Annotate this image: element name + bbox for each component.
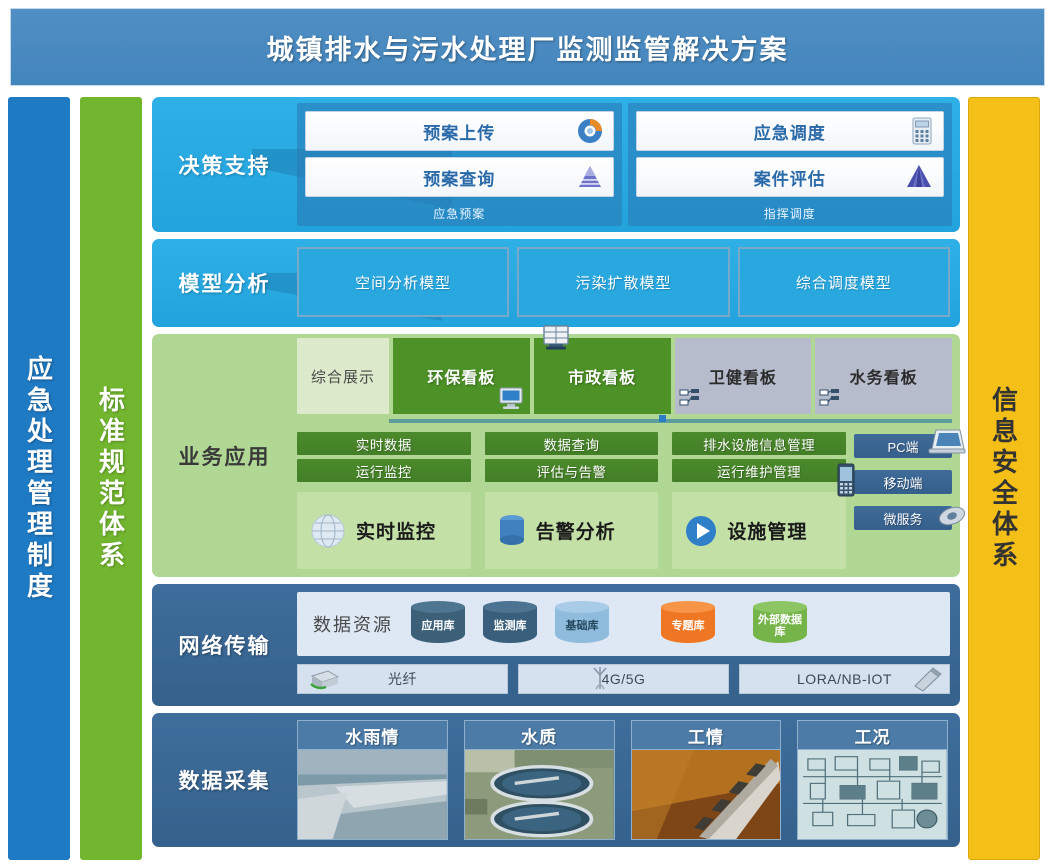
app-feature-facility-management[interactable]: 设施管理 [672,492,846,569]
canal-photo [297,750,448,840]
app-column-facility: 排水设施信息管理 运行维护管理 设施 [672,432,846,569]
layer-decision-support-label: 决策支持 [152,97,297,232]
dashboard-divider [389,419,952,423]
transmission-row: 光纤 4G/5G LORA/NB-IOT [297,664,950,694]
app-column-monitoring: 实时数据 运行监控 [297,432,471,569]
layer-data-acquisition: 数据采集 水雨情 水质 [152,713,960,847]
data-card-working-condition[interactable]: 工况 [797,720,948,840]
app-button-data-query[interactable]: 数据查询 [485,432,659,455]
terminal-mobile[interactable]: 移动端 [854,470,952,494]
button-case-assessment[interactable]: 案件评估 [636,157,945,197]
model-box-integrated-dispatch-label: 综合调度模型 [796,272,892,293]
pillar-emergency-management: 应急处理管理制度 [8,97,70,860]
data-card-working-condition-title: 工况 [797,720,948,750]
button-plan-upload-label: 预案上传 [423,119,495,144]
page-title: 城镇排水与污水处理厂监测监管解决方案 [267,28,789,67]
database-external-label: 外部数据库 [753,601,807,647]
architecture-stack: 决策支持 预案上传 预案查询 [152,97,960,854]
app-button-operation-monitor[interactable]: 运行监控 [297,459,471,482]
transmission-4g5g[interactable]: 4G/5G [518,664,729,694]
transmission-fiber-label: 光纤 [388,669,417,689]
transmission-lora-nbiot-label: LORA/NB-IOT [797,671,892,687]
data-resource-label: 数据资源 [313,611,393,637]
pillar-standard-label: 标准规范体系 [93,386,130,572]
app-column-alarm: 数据查询 评估与告警 [485,432,659,569]
app-feature-realtime-monitoring[interactable]: 实时监控 [297,492,471,569]
fiber-icon [308,668,340,692]
layer-business-application: 业务应用 综合展示 环保看板 市政看板 [152,334,960,577]
button-plan-upload[interactable]: 预案上传 [305,111,614,151]
pillar-emergency-label: 应急处理管理制度 [21,355,58,603]
laptop-icon [928,427,966,457]
terminal-pc-label: PC端 [887,437,918,456]
data-resource-panel: 数据资源 应用库 监测库 基础库 [297,592,950,656]
page-title-bar: 城镇排水与污水处理厂监测监管解决方案 [10,8,1045,86]
decision-group-command-dispatch: 应急调度 案件评估 [628,103,953,226]
dashboard-card-water-affairs-label: 水务看板 [850,364,918,388]
network-icon [679,388,701,408]
layer-network-transmission-label: 网络传输 [152,584,297,706]
app-button-operation-monitor-label: 运行监控 [356,461,412,481]
model-box-integrated-dispatch[interactable]: 综合调度模型 [738,247,950,317]
model-box-spatial-label: 空间分析模型 [355,272,451,293]
lifebuoy-icon [577,118,603,144]
button-plan-query[interactable]: 预案查询 [305,157,614,197]
data-card-rainfall[interactable]: 水雨情 [297,720,448,840]
decision-group-emergency-plan: 预案上传 预案查询 [297,103,622,226]
pillar-security-label: 信息安全体系 [986,386,1023,572]
terminal-mobile-label: 移动端 [883,473,922,492]
applications-area: 实时数据 运行监控 [297,432,952,569]
dashboard-row: 综合展示 环保看板 市政看板 [297,338,952,414]
dashboard-card-water-affairs[interactable]: 水务看板 [815,338,952,414]
diamond-icon [905,164,933,190]
app-button-drainage-facility-info[interactable]: 排水设施信息管理 [672,432,846,455]
app-button-maintenance-management[interactable]: 运行维护管理 [672,459,846,482]
button-plan-query-label: 预案查询 [423,165,495,190]
layer-business-application-label: 业务应用 [152,334,297,577]
app-button-drainage-facility-info-label: 排水设施信息管理 [703,434,815,454]
database-monitoring-label: 监测库 [483,601,537,647]
database-application-label: 应用库 [411,601,465,647]
terminal-pc[interactable]: PC端 [854,434,952,458]
play-icon [682,512,720,550]
sensor-icon [911,666,945,692]
database-external[interactable]: 外部数据库 [753,601,807,647]
terminal-microservice-label: 微服务 [883,509,922,528]
layer-model-analysis-label: 模型分析 [152,239,297,327]
database-basic[interactable]: 基础库 [555,601,609,647]
phone-icon [836,463,856,497]
database-thematic-label: 专题库 [661,601,715,647]
database-monitoring[interactable]: 监测库 [483,601,537,647]
terminal-microservice[interactable]: 微服务 [854,506,952,530]
dashboard-card-municipal[interactable]: 市政看板 [534,338,671,414]
window-icon [542,325,570,351]
dashboard-group-label: 综合展示 [297,338,389,414]
data-card-water-quality-title: 水质 [464,720,615,750]
database-thematic[interactable]: 专题库 [661,601,715,647]
model-box-pollution-diffusion[interactable]: 污染扩散模型 [517,247,729,317]
dashboard-card-environmental-label: 环保看板 [427,364,495,388]
calculator-icon [911,117,933,145]
decision-group-emergency-plan-footer: 应急预案 [305,203,614,223]
scada-diagram [797,750,948,840]
app-button-maintenance-management-label: 运行维护管理 [717,461,801,481]
app-feature-facility-management-label: 设施管理 [727,517,807,544]
data-card-project-status[interactable]: 工情 [631,720,782,840]
monitor-icon [498,386,524,410]
database-icon [495,512,529,550]
dashboard-card-municipal-label: 市政看板 [568,364,636,388]
decision-group-command-dispatch-footer: 指挥调度 [636,203,945,223]
app-button-assessment-alarm-label: 评估与告警 [537,461,607,481]
antenna-icon [590,663,610,693]
model-box-spatial[interactable]: 空间分析模型 [297,247,509,317]
gear-icon [936,502,968,530]
layer-data-acquisition-label: 数据采集 [152,713,297,847]
data-card-project-status-title: 工情 [631,720,782,750]
dashboard-card-health-label: 卫健看板 [709,364,777,388]
pipeline-trench-photo [631,750,782,840]
layer-decision-support: 决策支持 预案上传 预案查询 [152,97,960,232]
app-feature-realtime-monitoring-label: 实时监控 [356,517,436,544]
treatment-pond-photo [464,750,615,840]
database-basic-label: 基础库 [555,601,609,647]
app-feature-alarm-analysis-label: 告警分析 [536,517,616,544]
pyramid-icon [577,165,603,189]
network-icon [819,388,841,408]
model-box-pollution-diffusion-label: 污染扩散模型 [575,272,671,293]
transmission-fiber[interactable]: 光纤 [297,664,508,694]
data-card-rainfall-title: 水雨情 [297,720,448,750]
dashboard-card-health[interactable]: 卫健看板 [675,338,812,414]
dashboard-card-environmental[interactable]: 环保看板 [393,338,530,414]
layer-model-analysis: 模型分析 空间分析模型 污染扩散模型 综合调度模型 [152,239,960,327]
transmission-lora-nbiot[interactable]: LORA/NB-IOT [739,664,950,694]
data-card-water-quality[interactable]: 水质 [464,720,615,840]
pillar-standard-system: 标准规范体系 [80,97,142,860]
globe-icon [307,510,349,552]
app-feature-alarm-analysis[interactable]: 告警分析 [485,492,659,569]
database-application[interactable]: 应用库 [411,601,465,647]
button-emergency-dispatch[interactable]: 应急调度 [636,111,945,151]
app-button-realtime-data[interactable]: 实时数据 [297,432,471,455]
layer-network-transmission: 网络传输 数据资源 应用库 监测库 基础库 [152,584,960,706]
button-case-assessment-label: 案件评估 [754,165,826,190]
app-button-data-query-label: 数据查询 [544,434,600,454]
pillar-information-security: 信息安全体系 [968,97,1040,860]
button-emergency-dispatch-label: 应急调度 [754,119,826,144]
app-button-realtime-data-label: 实时数据 [356,434,412,454]
terminal-column: PC端 移动端 [854,432,952,569]
app-button-assessment-alarm[interactable]: 评估与告警 [485,459,659,482]
